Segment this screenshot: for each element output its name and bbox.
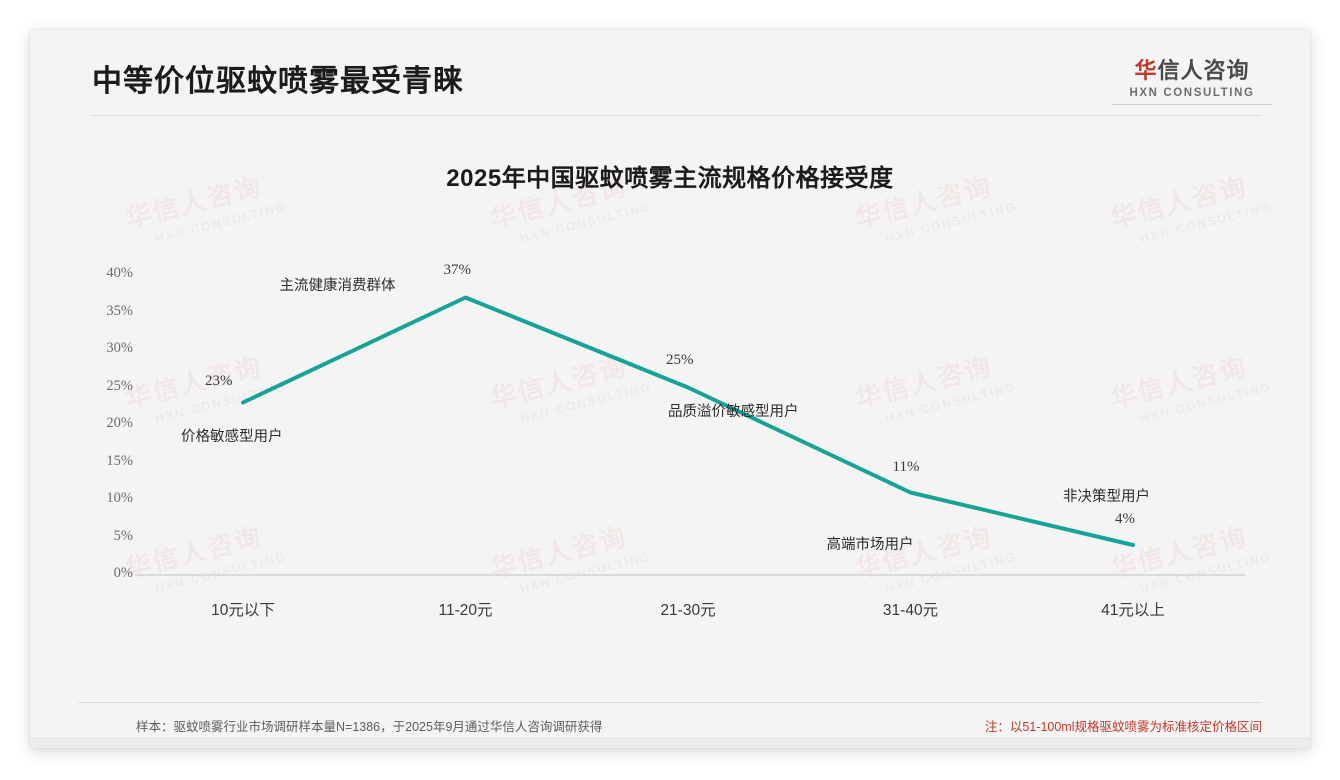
y-axis-tick: 15% bbox=[78, 453, 133, 470]
y-axis-tick: 0% bbox=[78, 565, 133, 582]
data-point-label: 11% bbox=[893, 459, 920, 476]
data-point-label: 37% bbox=[444, 262, 472, 279]
data-point-annotation: 主流健康消费群体 bbox=[280, 274, 396, 295]
data-point-label: 4% bbox=[1115, 511, 1135, 528]
x-axis-tick: 41元以上 bbox=[1043, 598, 1223, 620]
data-series-line bbox=[243, 298, 1133, 546]
data-point-label: 25% bbox=[666, 352, 694, 369]
data-point-annotation: 非决策型用户 bbox=[1063, 485, 1150, 506]
copyright-text: ©2025.11 HXR华信人咨询 bbox=[102, 746, 242, 748]
data-point-annotation: 高端市场用户 bbox=[827, 533, 914, 554]
x-axis-tick: 11-20元 bbox=[376, 598, 556, 620]
methodology-note: 注：以51-100ml规格驱蚊喷雾为标准核定价格区间 bbox=[985, 716, 1262, 735]
y-axis-tick: 5% bbox=[78, 528, 133, 545]
y-axis-tick: 25% bbox=[78, 378, 133, 395]
y-axis-tick: 35% bbox=[78, 303, 133, 320]
x-axis-tick: 31-40元 bbox=[821, 598, 1001, 620]
footer-divider bbox=[78, 702, 1262, 703]
data-point-annotation: 价格敏感型用户 bbox=[181, 425, 283, 446]
y-axis-tick: 40% bbox=[78, 265, 133, 282]
sample-note: 样本：驱蚊喷雾行业市场调研样本量N=1386，于2025年9月通过华信人咨询调研… bbox=[136, 716, 602, 735]
chart-plot-area: 40%35%30%25%20%15%10%5%0% 10元以下11-20元21-… bbox=[30, 30, 1310, 748]
y-axis-tick: 30% bbox=[78, 340, 133, 357]
website-link[interactable]: www.hxrcon.com bbox=[1161, 746, 1252, 748]
y-axis-tick: 10% bbox=[78, 490, 133, 507]
y-axis-tick: 20% bbox=[78, 415, 133, 432]
data-point-annotation: 品质溢价敏感型用户 bbox=[668, 400, 799, 421]
x-axis-tick: 10元以下 bbox=[153, 598, 333, 620]
slide-canvas: 华信人咨询HXN CONSULTING华信人咨询HXN CONSULTING华信… bbox=[30, 30, 1310, 748]
x-axis-tick: 21-30元 bbox=[598, 598, 778, 620]
data-point-label: 23% bbox=[205, 373, 233, 390]
